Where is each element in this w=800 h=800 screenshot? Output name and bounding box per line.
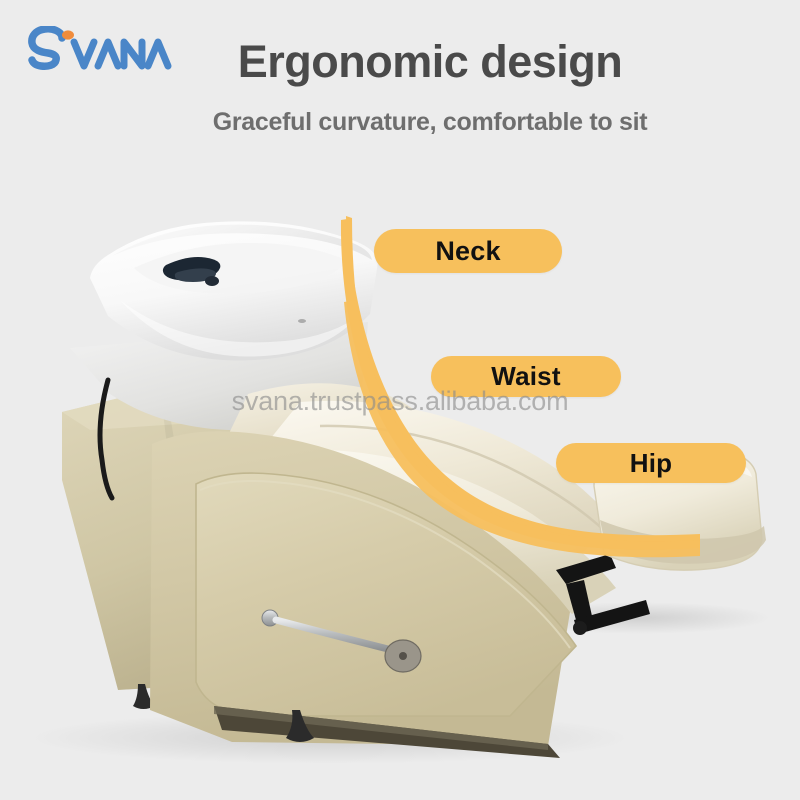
callout-pill-waist[interactable]: Waist — [431, 356, 621, 397]
bowl-drain-icon — [298, 319, 306, 323]
callout-label-hip: Hip — [630, 448, 672, 479]
page-subtitle: Graceful curvature, comfortable to sit — [150, 108, 710, 137]
logo-dot-icon — [62, 30, 74, 39]
callout-label-neck: Neck — [435, 236, 500, 267]
callout-label-waist: Waist — [491, 361, 560, 392]
lever-pivot-screw-icon — [399, 652, 407, 660]
product-banner: Ergonomic design Graceful curvature, com… — [0, 0, 800, 800]
callout-pill-neck[interactable]: Neck — [374, 229, 562, 273]
faucet-knob-icon — [205, 276, 219, 286]
callout-pill-hip[interactable]: Hip — [556, 443, 746, 483]
page-title: Ergonomic design — [150, 36, 710, 88]
